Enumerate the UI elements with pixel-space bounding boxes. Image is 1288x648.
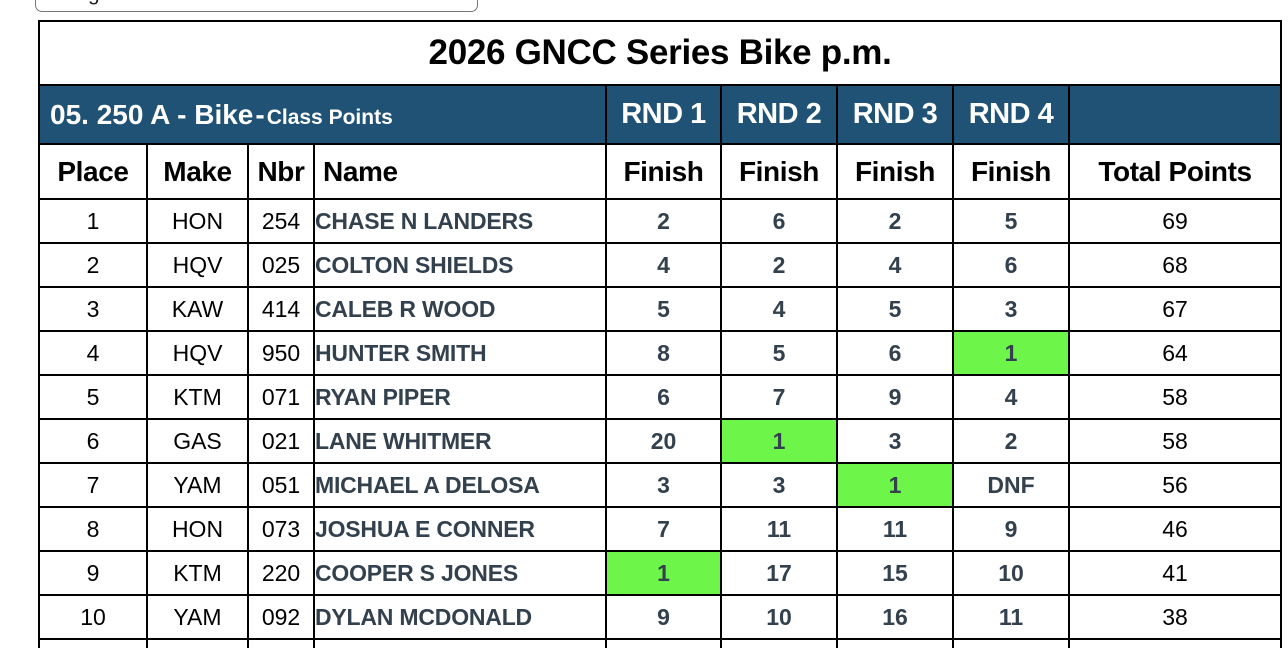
cell-finish-round-1: 20 [606,419,721,463]
cell-rider-name: JOSHUA E CONNER [314,507,606,551]
cell-make: KTM [147,375,248,419]
class-title-subtitle: Class Points [267,106,393,129]
cell-finish-round-4: 4 [953,375,1069,419]
class-title-cell: 05. 250 A - Bike-Class Points [39,85,606,144]
cell-finish-round-2: 4 [721,287,837,331]
cell-finish-round-4: 3 [953,287,1069,331]
cell-nbr: 254 [248,199,314,243]
cell-rider-name [314,639,606,648]
cell-finish-round-3 [837,639,953,648]
cell-total-points: 56 [1069,463,1281,507]
table-row: 3KAW414CALEB R WOOD545367 [39,287,1281,331]
cell-finish-round-2: 5 [721,331,837,375]
results-rows-body: 1HON254CHASE N LANDERS2625692HQV025COLTO… [39,199,1281,648]
cell-total-points: 58 [1069,375,1281,419]
table-row: 8HON073JOSHUA E CONNER71111946 [39,507,1281,551]
cell-finish-round-2: 11 [721,507,837,551]
results-page: Navigation ▾ 2026 GNCC Series Bike p.m. … [0,0,1288,648]
cell-nbr: 092 [248,595,314,639]
cell-finish-round-1: 4 [606,243,721,287]
table-row: 1HON254CHASE N LANDERS262569 [39,199,1281,243]
cell-place: 2 [39,243,147,287]
page-title: 2026 GNCC Series Bike p.m. [39,21,1281,85]
cell-nbr [248,639,314,648]
cell-total-points: 58 [1069,419,1281,463]
cell-finish-round-1: 8 [606,331,721,375]
cell-finish-round-3: 16 [837,595,953,639]
cell-place: 3 [39,287,147,331]
cell-finish-round-2: 3 [721,463,837,507]
cell-rider-name: CALEB R WOOD [314,287,606,331]
cell-rider-name: COOPER S JONES [314,551,606,595]
cell-finish-round-2: 2 [721,243,837,287]
cell-finish-round-3: 5 [837,287,953,331]
class-title-main: 05. 250 A - Bike [50,99,253,130]
cell-make: YAM [147,463,248,507]
cell-total-points: 38 [1069,595,1281,639]
table-row: 5KTM071RYAN PIPER679458 [39,375,1281,419]
cell-finish-round-4: 5 [953,199,1069,243]
column-header-nbr: Nbr [248,144,314,199]
table-row: 7YAM051MICHAEL A DELOSA331DNF56 [39,463,1281,507]
cell-place [39,639,147,648]
cell-finish-round-4: 6 [953,243,1069,287]
cell-finish-round-2: 17 [721,551,837,595]
cell-finish-round-3: 11 [837,507,953,551]
cell-nbr: 414 [248,287,314,331]
cell-finish-round-1: 6 [606,375,721,419]
table-row: 6GAS021LANE WHITMER2013258 [39,419,1281,463]
navigation-dropdown-label: Navigation [46,0,461,4]
cell-finish-round-1: 5 [606,287,721,331]
results-table-container: 2026 GNCC Series Bike p.m. 05. 250 A - B… [38,20,1280,648]
cell-nbr: 220 [248,551,314,595]
cell-finish-round-4: 11 [953,595,1069,639]
cell-rider-name: HUNTER SMITH [314,331,606,375]
cell-finish-round-1 [606,639,721,648]
column-header-finish-2: Finish [721,144,837,199]
cell-make: HQV [147,331,248,375]
column-header-finish-3: Finish [837,144,953,199]
cell-finish-round-2: 7 [721,375,837,419]
cell-rider-name: COLTON SHIELDS [314,243,606,287]
cell-finish-round-2: 6 [721,199,837,243]
cell-finish-round-1: 3 [606,463,721,507]
cell-nbr: 021 [248,419,314,463]
cell-nbr: 950 [248,331,314,375]
cell-place: 9 [39,551,147,595]
cell-finish-round-2: 10 [721,595,837,639]
cell-finish-round-4: 10 [953,551,1069,595]
cell-finish-round-4: DNF [953,463,1069,507]
round-2-header: RND 2 [721,85,837,144]
cell-place: 6 [39,419,147,463]
cell-make: YAM [147,595,248,639]
cell-make: HQV [147,243,248,287]
cell-finish-round-3: 9 [837,375,953,419]
round-4-header: RND 4 [953,85,1069,144]
cell-make: GAS [147,419,248,463]
column-header-row: Place Make Nbr Name Finish Finish Finish… [39,144,1281,199]
cell-total-points: 46 [1069,507,1281,551]
cell-finish-round-4: 2 [953,419,1069,463]
cell-nbr: 051 [248,463,314,507]
cell-make: HON [147,507,248,551]
class-points-table: 2026 GNCC Series Bike p.m. 05. 250 A - B… [38,20,1282,648]
class-title-separator: - [253,99,266,130]
cell-place: 1 [39,199,147,243]
cell-make: HON [147,199,248,243]
cell-finish-round-2 [721,639,837,648]
class-and-rounds-header-row: 05. 250 A - Bike-Class Points RND 1 RND … [39,85,1281,144]
cell-total-points: 64 [1069,331,1281,375]
cell-rider-name: LANE WHITMER [314,419,606,463]
column-header-place: Place [39,144,147,199]
cell-finish-round-4: 9 [953,507,1069,551]
cell-rider-name: MICHAEL A DELOSA [314,463,606,507]
cell-finish-round-3: 2 [837,199,953,243]
column-header-finish-4: Finish [953,144,1069,199]
cell-total-points [1069,639,1281,648]
column-header-make: Make [147,144,248,199]
navigation-dropdown[interactable]: Navigation ▾ [35,0,478,12]
cell-make: KAW [147,287,248,331]
column-header-finish-1: Finish [606,144,721,199]
cell-total-points: 68 [1069,243,1281,287]
cell-place: 7 [39,463,147,507]
cell-finish-round-1: 1 [606,551,721,595]
column-header-total-points: Total Points [1069,144,1281,199]
cell-place: 10 [39,595,147,639]
cell-rider-name: RYAN PIPER [314,375,606,419]
cell-place: 4 [39,331,147,375]
cell-total-points: 41 [1069,551,1281,595]
cell-total-points: 69 [1069,199,1281,243]
report-title-row: 2026 GNCC Series Bike p.m. [39,21,1281,85]
cell-place: 8 [39,507,147,551]
round-band-blank-cell [1069,85,1281,144]
cell-finish-round-4: 1 [953,331,1069,375]
round-3-header: RND 3 [837,85,953,144]
cell-rider-name: CHASE N LANDERS [314,199,606,243]
table-row [39,639,1281,648]
table-row: 9KTM220COOPER S JONES117151041 [39,551,1281,595]
cell-finish-round-3: 4 [837,243,953,287]
cell-finish-round-3: 15 [837,551,953,595]
cell-rider-name: DYLAN MCDONALD [314,595,606,639]
table-row: 2HQV025COLTON SHIELDS424668 [39,243,1281,287]
round-1-header: RND 1 [606,85,721,144]
cell-total-points: 67 [1069,287,1281,331]
cell-finish-round-4 [953,639,1069,648]
cell-finish-round-1: 2 [606,199,721,243]
cell-finish-round-3: 1 [837,463,953,507]
cell-place: 5 [39,375,147,419]
table-row: 4HQV950HUNTER SMITH856164 [39,331,1281,375]
cell-finish-round-1: 9 [606,595,721,639]
cell-nbr: 071 [248,375,314,419]
cell-finish-round-3: 3 [837,419,953,463]
cell-finish-round-3: 6 [837,331,953,375]
cell-finish-round-2: 1 [721,419,837,463]
cell-make: KTM [147,551,248,595]
cell-finish-round-1: 7 [606,507,721,551]
cell-nbr: 073 [248,507,314,551]
table-row: 10YAM092DYLAN MCDONALD910161138 [39,595,1281,639]
column-header-name: Name [314,144,606,199]
cell-nbr: 025 [248,243,314,287]
cell-make [147,639,248,648]
